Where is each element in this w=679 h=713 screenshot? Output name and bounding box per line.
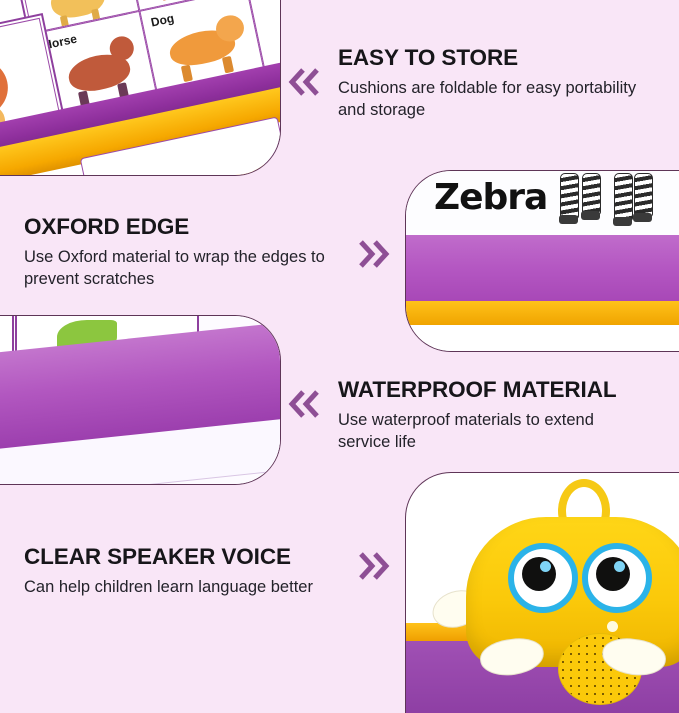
feature-body: Use waterproof materials to extend servi…: [338, 409, 618, 453]
speaker-eye-right: [582, 543, 652, 613]
chevron-double-left-icon: [288, 68, 322, 96]
speaker-eye-glint-right: [614, 561, 625, 572]
mat-sheet-rotated: Horse Dog: [0, 0, 280, 175]
feature-text-oxford-edge: OXFORD EDGE Use Oxford material to wrap …: [24, 215, 342, 290]
speaker-pupil-right: [596, 557, 630, 591]
infographic-canvas: Horse Dog: [0, 0, 679, 679]
chevron-double-right-icon: [356, 552, 390, 580]
feature-body: Can help children learn language better: [24, 576, 313, 598]
chevron-double-left-icon: [288, 390, 322, 418]
speaker-eye-left: [508, 543, 578, 613]
feature-heading: OXFORD EDGE: [24, 215, 342, 239]
folded-mat-artwork: Horse Dog: [0, 0, 280, 175]
mat-label-dog: Dog: [150, 11, 176, 30]
feature-body: Cushions are foldable for easy portabili…: [338, 77, 654, 121]
feature-heading: CLEAR SPEAKER VOICE: [24, 545, 313, 569]
panel-zebra-closeup: Zebra: [405, 170, 679, 352]
rolled-mat-artwork: C a t Vol: [0, 316, 280, 484]
zebra-white-sheet: Zebra: [406, 171, 679, 235]
speaker-nose-dot: [607, 621, 618, 632]
panel-rolled-mat: C a t Vol: [0, 315, 281, 485]
zebra-artwork: Zebra: [406, 171, 679, 351]
zebra-base: [406, 325, 679, 351]
feature-text-clear-speaker-voice: CLEAR SPEAKER VOICE Can help children le…: [24, 545, 313, 598]
feature-heading: EASY TO STORE: [338, 46, 654, 70]
zebra-word-label: Zebra: [434, 177, 547, 218]
speaker-pupil-left: [522, 557, 556, 591]
speaker-eye-glint-left: [540, 561, 551, 572]
panel-folded-mat: Horse Dog: [0, 0, 281, 176]
feature-text-waterproof-material: WATERPROOF MATERIAL Use waterproof mater…: [338, 378, 618, 453]
zebra-yellow-edge: [406, 301, 679, 325]
zebra-oxford-band: [406, 235, 679, 301]
chevron-double-right-icon: [356, 240, 390, 268]
panel-speaker-device: [405, 472, 679, 713]
speaker-artwork: [406, 473, 679, 713]
feature-text-easy-to-store: EASY TO STORE Cushions are foldable for …: [338, 46, 654, 121]
feature-body: Use Oxford material to wrap the edges to…: [24, 246, 342, 290]
zebra-legs-illustration: [556, 173, 656, 231]
feature-heading: WATERPROOF MATERIAL: [338, 378, 618, 402]
